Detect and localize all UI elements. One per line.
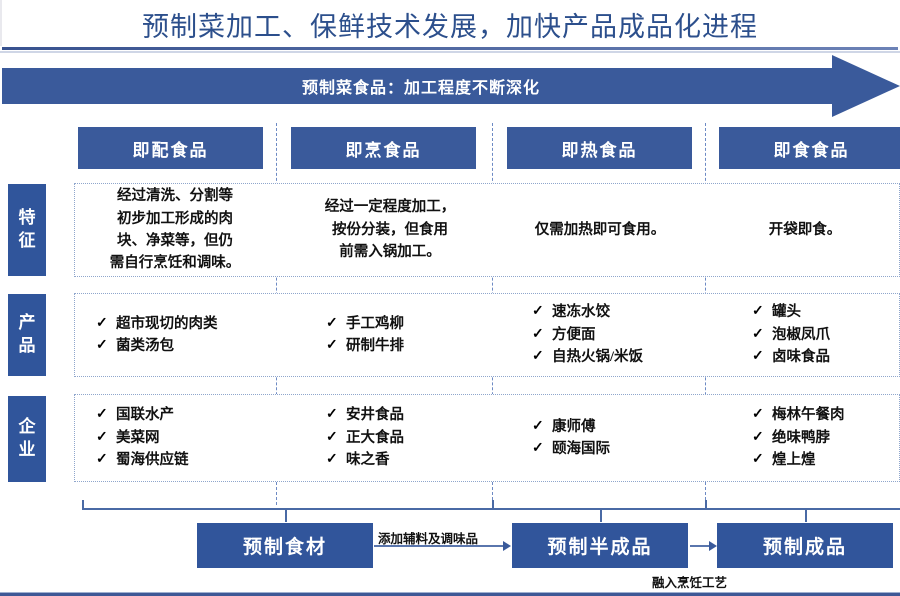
row-label-0: 特 征 — [8, 184, 46, 276]
cell-2-2: ✓康师傅 ✓颐海国际 — [532, 394, 707, 482]
column-header-0: 即配食品 — [78, 127, 263, 169]
cell-0-1-line-0: 经过一定程度加工， — [292, 196, 488, 218]
bullet-label: 速冻水饺 — [552, 301, 610, 323]
check-icon: ✓ — [752, 324, 772, 346]
bullet-item: ✓手工鸡柳 — [326, 313, 496, 335]
cell-0-3-line-0: 开袋即食。 — [712, 219, 898, 241]
flow-arrowhead-0 — [503, 541, 511, 551]
bullet-item: ✓味之香 — [326, 449, 496, 471]
cell-1-1: ✓手工鸡柳 ✓研制牛排 — [326, 293, 496, 377]
bullet-item: ✓卤味食品 — [752, 346, 900, 368]
flow-box-1: 预制半成品 — [512, 523, 688, 568]
bullet-item: ✓安井食品 — [326, 404, 496, 426]
check-icon: ✓ — [532, 438, 552, 460]
bullet-item: ✓菌类汤包 — [96, 335, 276, 357]
bullet-item: ✓罐头 — [752, 301, 900, 323]
check-icon: ✓ — [96, 449, 116, 471]
cell-2-1: ✓安井食品 ✓正大食品 ✓味之香 — [326, 394, 496, 482]
bullet-item: ✓颐海国际 — [532, 438, 707, 460]
bullet-label: 安井食品 — [346, 404, 404, 426]
bracket-tick-up-2 — [705, 500, 707, 510]
bullet-label: 超市现切的肉类 — [116, 313, 218, 335]
cell-0-0-line-2: 块、净菜等，但仍 — [80, 230, 270, 252]
bullet-label: 绝味鸭脖 — [772, 427, 830, 449]
check-icon: ✓ — [532, 346, 552, 368]
bullet-label: 美菜网 — [116, 427, 160, 449]
cell-1-3: ✓罐头 ✓泡椒凤爪 ✓卤味食品 — [752, 293, 900, 377]
bullet-label: 煌上煌 — [772, 449, 816, 471]
check-icon: ✓ — [752, 346, 772, 368]
bullet-item: ✓煌上煌 — [752, 449, 900, 471]
cell-0-0-line-1: 初步加工形成的肉 — [80, 208, 270, 230]
row-label-0-char-1: 征 — [19, 230, 36, 253]
row-label-2: 企 业 — [8, 396, 46, 482]
bullet-label: 菌类汤包 — [116, 335, 174, 357]
row-label-2-char-0: 企 — [19, 416, 36, 439]
column-header-3: 即食食品 — [719, 127, 900, 169]
check-icon: ✓ — [326, 313, 346, 335]
bullet-label: 方便面 — [552, 324, 596, 346]
bullet-label: 国联水产 — [116, 404, 174, 426]
check-icon: ✓ — [532, 301, 552, 323]
cell-0-0-line-3: 需自行烹饪和调味。 — [80, 252, 270, 274]
flow-caption-1: 融入烹饪工艺 — [652, 572, 727, 591]
check-icon: ✓ — [96, 404, 116, 426]
flow-arrowhead-1 — [709, 541, 717, 551]
check-icon: ✓ — [326, 449, 346, 471]
check-icon: ✓ — [532, 324, 552, 346]
bullet-item: ✓泡椒凤爪 — [752, 324, 900, 346]
cell-0-2-line-0: 仅需加热即可食用。 — [500, 219, 700, 241]
page-title: 预制菜加工、保鲜技术发展，加快产品成品化进程 — [0, 2, 900, 46]
bullet-label: 泡椒凤爪 — [772, 324, 830, 346]
bullet-label: 自热火锅/米饭 — [552, 346, 643, 368]
bullet-label: 罐头 — [772, 301, 801, 323]
row-label-1: 产 品 — [8, 294, 46, 376]
cell-0-2: 仅需加热即可食用。 — [500, 183, 700, 277]
check-icon: ✓ — [752, 404, 772, 426]
cell-0-1: 经过一定程度加工， 按份分装，但食用 前需入锅加工。 — [292, 183, 488, 277]
bullet-item: ✓美菜网 — [96, 427, 276, 449]
cell-0-0: 经过清洗、分割等 初步加工形成的肉 块、净菜等，但仍 需自行烹饪和调味。 — [80, 183, 270, 277]
bullet-label: 颐海国际 — [552, 438, 610, 460]
row-label-2-char-1: 业 — [19, 439, 36, 462]
check-icon: ✓ — [752, 301, 772, 323]
bullet-item: ✓研制牛排 — [326, 335, 496, 357]
column-header-1: 即烹食品 — [291, 127, 476, 169]
check-icon: ✓ — [326, 404, 346, 426]
bullet-label: 正大食品 — [346, 427, 404, 449]
process-banner: 预制菜食品：加工程度不断深化 — [2, 55, 900, 117]
slide-root: 预制菜加工、保鲜技术发展，加快产品成品化进程 预制菜食品：加工程度不断深化 即配… — [0, 0, 900, 596]
row-label-1-char-1: 品 — [19, 335, 36, 358]
bullet-item: ✓自热火锅/米饭 — [532, 346, 707, 368]
bullet-label: 梅林午餐肉 — [772, 404, 845, 426]
check-icon: ✓ — [326, 335, 346, 357]
cell-0-1-line-1: 按份分装，但食用 — [292, 219, 488, 241]
check-icon: ✓ — [96, 313, 116, 335]
cell-2-0: ✓国联水产 ✓美菜网 ✓蜀海供应链 — [96, 394, 276, 482]
bullet-label: 蜀海供应链 — [116, 449, 189, 471]
right-arrow-icon — [832, 55, 900, 117]
bullet-item: ✓速冻水饺 — [532, 301, 707, 323]
cell-1-0: ✓超市现切的肉类 ✓菌类汤包 — [96, 293, 276, 377]
bracket-horizontal — [82, 508, 900, 510]
bullet-item: ✓方便面 — [532, 324, 707, 346]
bullet-item: ✓国联水产 — [96, 404, 276, 426]
bullet-item: ✓超市现切的肉类 — [96, 313, 276, 335]
check-icon: ✓ — [532, 416, 552, 438]
check-icon: ✓ — [326, 427, 346, 449]
cell-2-3: ✓梅林午餐肉 ✓绝味鸭脖 ✓煌上煌 — [752, 394, 900, 482]
flow-connector-1 — [690, 545, 710, 547]
flow-box-0: 预制食材 — [197, 523, 373, 568]
cell-0-0-line-0: 经过清洗、分割等 — [80, 185, 270, 207]
bracket-tick-up-1 — [492, 500, 494, 510]
banner-label: 预制菜食品：加工程度不断深化 — [2, 68, 840, 104]
bracket-tick-up-0 — [82, 500, 84, 510]
flow-caption-0: 添加辅料及调味品 — [378, 528, 478, 547]
cell-0-1-line-2: 前需入锅加工。 — [292, 241, 488, 263]
bullet-item: ✓正大食品 — [326, 427, 496, 449]
bracket-tick-down-2 — [805, 508, 807, 522]
cell-1-2: ✓速冻水饺 ✓方便面 ✓自热火锅/米饭 — [532, 293, 707, 377]
bullet-label: 康师傅 — [552, 416, 596, 438]
bracket-tick-down-0 — [285, 508, 287, 522]
cell-0-3: 开袋即食。 — [712, 183, 898, 277]
bullet-label: 手工鸡柳 — [346, 313, 404, 335]
check-icon: ✓ — [752, 449, 772, 471]
bracket-tick-down-1 — [600, 508, 602, 522]
row-label-0-char-0: 特 — [19, 207, 36, 230]
check-icon: ✓ — [96, 427, 116, 449]
row-label-1-char-0: 产 — [19, 312, 36, 335]
flow-box-2: 预制成品 — [717, 523, 893, 568]
bullet-item: ✓绝味鸭脖 — [752, 427, 900, 449]
bullet-label: 卤味食品 — [772, 346, 830, 368]
bullet-item: ✓梅林午餐肉 — [752, 404, 900, 426]
title-divider — [2, 47, 898, 50]
bullet-label: 研制牛排 — [346, 335, 404, 357]
bullet-label: 味之香 — [346, 449, 390, 471]
check-icon: ✓ — [96, 335, 116, 357]
column-header-2: 即热食品 — [507, 127, 692, 169]
bullet-item: ✓蜀海供应链 — [96, 449, 276, 471]
bullet-item: ✓康师傅 — [532, 416, 707, 438]
check-icon: ✓ — [752, 427, 772, 449]
title-divider-secondary — [0, 51, 900, 53]
